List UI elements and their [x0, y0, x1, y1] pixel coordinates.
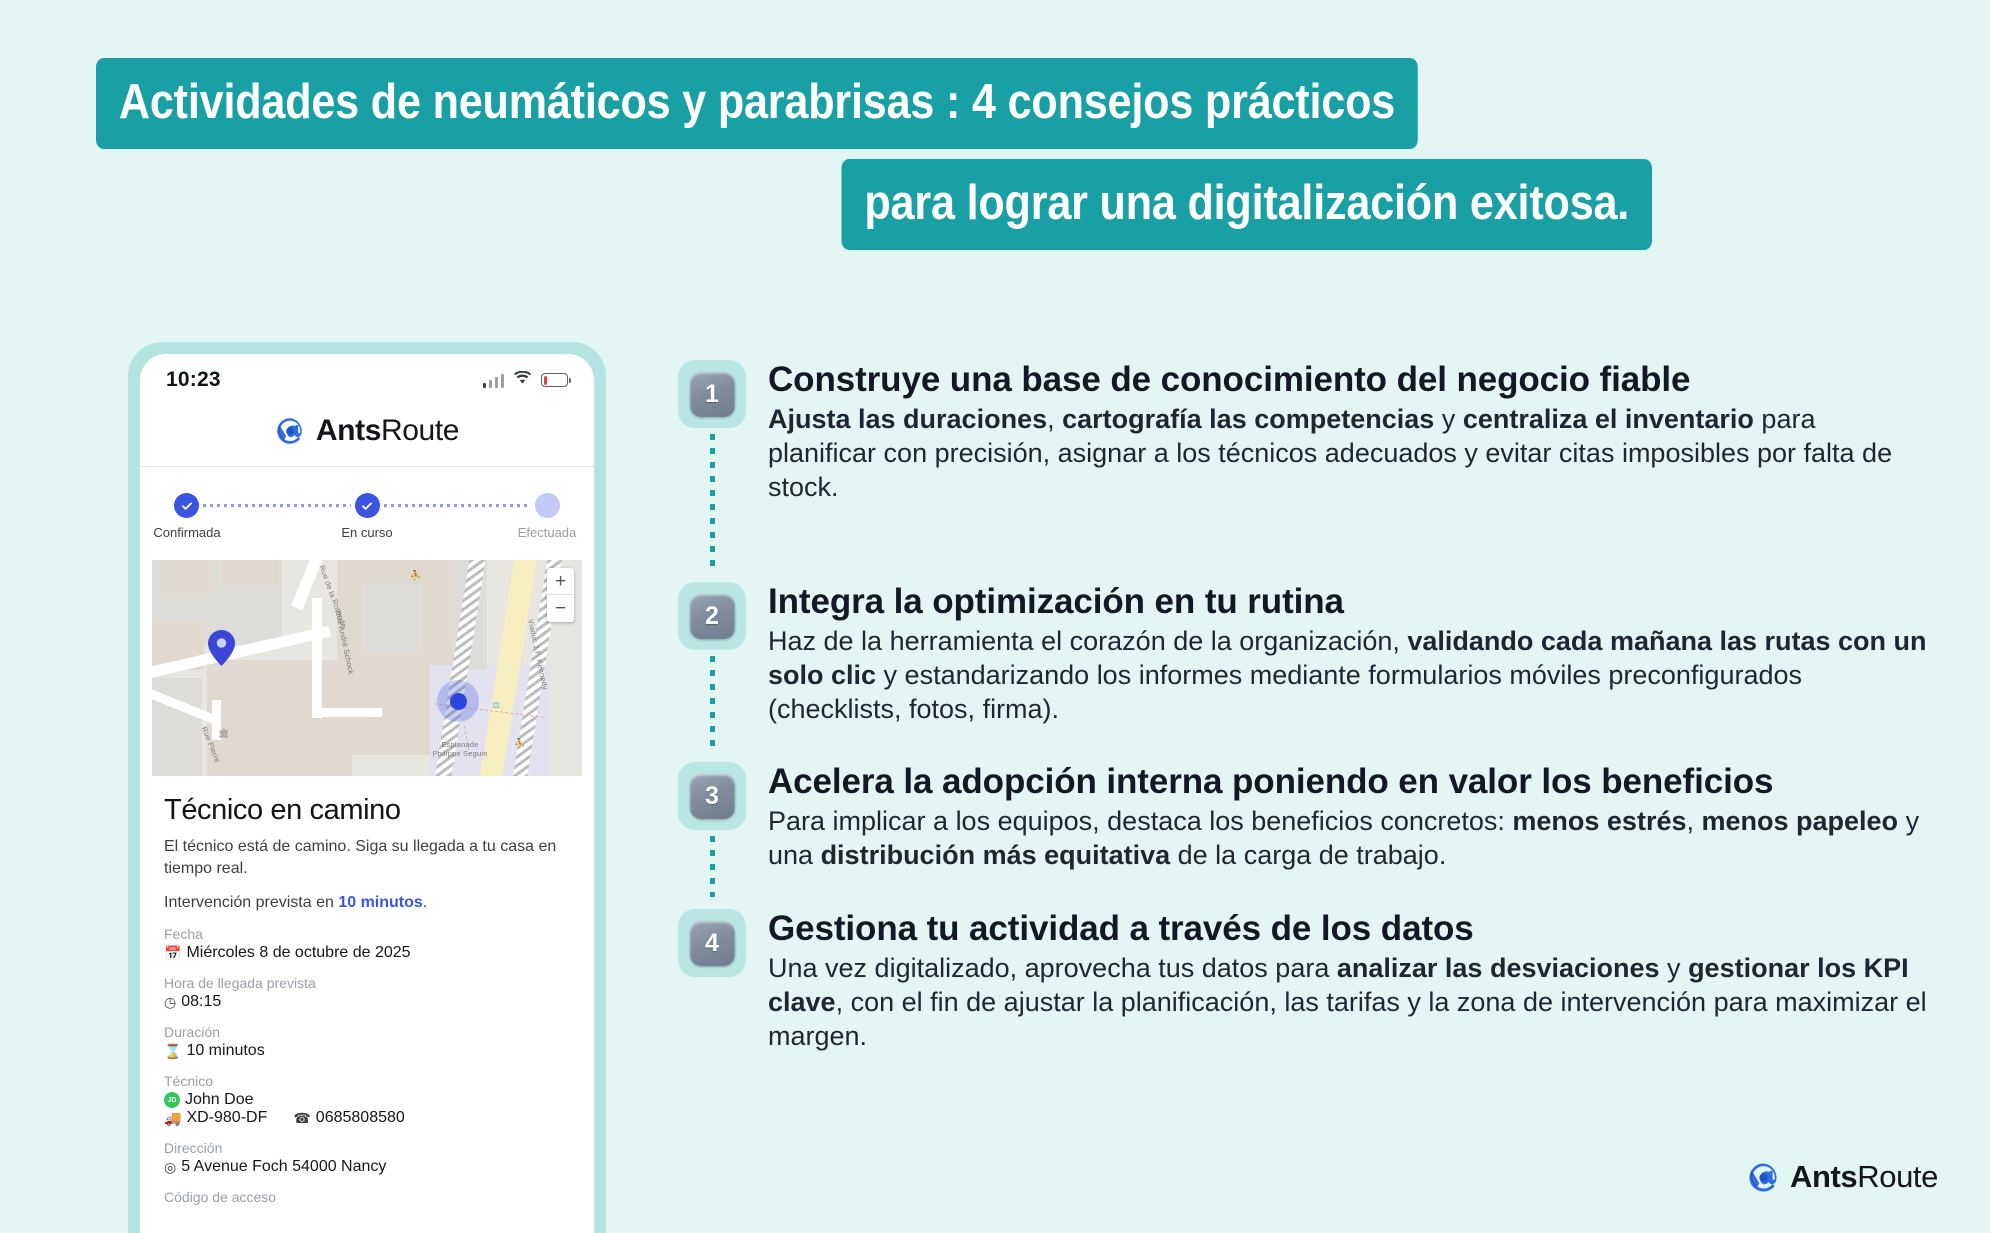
technician-name: John Doe [185, 1091, 254, 1109]
stepper-dot-en-curso [355, 493, 380, 518]
field-direccion-value-row: ◎ 5 Avenue Foch 54000 Nancy [164, 1158, 570, 1176]
wifi-icon [513, 371, 532, 390]
tip-3-badge-bg: 3 [678, 762, 746, 830]
tip-3-badge-column: 3 [678, 762, 746, 897]
field-tecnico: Técnico JD John Doe 🚚 XD-980-DF ☎ 068580… [164, 1073, 570, 1127]
stepper-label-confirmada: Confirmada [141, 525, 233, 540]
signal-bars-icon [483, 373, 505, 388]
footer-brand-text: AntsRoute [1790, 1159, 1938, 1195]
status-bar: 10:23 [140, 354, 594, 398]
tip-4-heading: Gestiona tu actividad a través de los da… [768, 909, 1928, 948]
tip-4-badge-bg: 4 [678, 909, 746, 977]
hourglass-icon: ⌛ [164, 1043, 181, 1060]
field-direccion-label: Dirección [164, 1140, 570, 1156]
tip-1-heading: Construye una base de conocimiento del n… [768, 360, 1928, 399]
status-bar-time: 10:23 [166, 368, 221, 392]
tip-1-badge-column: 1 [678, 360, 746, 570]
tip-3-heading: Acelera la adopción interna poniendo en … [768, 762, 1928, 801]
location-pin-icon: ◎ [164, 1159, 176, 1176]
antsroute-logo-icon [275, 416, 305, 446]
page-title-line-2: para lograr una digitalización exitosa. [842, 159, 1652, 250]
field-duracion-value-row: ⌛ 10 minutos [164, 1042, 570, 1060]
tip-connector-1 [710, 434, 715, 570]
tip-connector-2 [710, 656, 715, 750]
brand-bold: Ants [316, 414, 381, 447]
tip-2-body: Integra la optimización en tu rutina Haz… [746, 582, 1928, 726]
phone-screen: 10:23 AntsRoute [140, 354, 594, 1233]
map-pin-icon [208, 630, 235, 666]
stepper-dot-confirmada [174, 493, 199, 518]
tip-item-1: 1 Construye una base de conocimiento del… [678, 360, 1928, 570]
field-hora-value-row: ◷ 08:15 [164, 993, 570, 1011]
clock-icon: ◷ [164, 994, 176, 1011]
antsroute-logo-icon [1747, 1161, 1780, 1194]
technician-plate: XD-980-DF [186, 1109, 267, 1127]
field-fecha-value: Miércoles 8 de octubre de 2025 [186, 944, 410, 962]
page-title-line-1: Actividades de neumáticos y parabrisas :… [96, 58, 1418, 149]
phone-icon: ☎ [293, 1110, 310, 1127]
tip-1-body: Construye una base de conocimiento del n… [746, 360, 1928, 504]
technician-phone-group[interactable]: ☎ 0685808580 [293, 1109, 404, 1127]
footer-brand-bold: Ants [1790, 1159, 1857, 1194]
tip-connector-3 [710, 836, 715, 897]
stepper-line-1 [203, 504, 351, 507]
field-direccion-value: 5 Avenue Foch 54000 Nancy [181, 1158, 386, 1176]
field-direccion: Dirección ◎ 5 Avenue Foch 54000 Nancy [164, 1140, 570, 1176]
truck-icon: 🚚 [164, 1110, 181, 1127]
stepper-label-en-curso: En curso [233, 525, 501, 540]
tip-4-text: Una vez digitalizado, aprovecha tus dato… [768, 951, 1928, 1053]
field-tecnico-label: Técnico [164, 1073, 570, 1089]
intervention-details: Técnico en camino El técnico está de cam… [140, 776, 594, 1205]
field-codigo-acceso: Código de acceso [164, 1189, 570, 1205]
field-codigo-acceso-label: Código de acceso [164, 1189, 570, 1205]
map-zoom-controls[interactable]: + − [547, 568, 574, 622]
app-brand-text: AntsRoute [316, 414, 459, 448]
tip-3-number-badge: 3 [690, 774, 735, 819]
avatar: JD [164, 1092, 180, 1108]
tip-2-badge-bg: 2 [678, 582, 746, 650]
field-duracion-value: 10 minutos [186, 1042, 264, 1060]
field-hora-value: 08:15 [181, 993, 221, 1011]
tip-1-badge-bg: 1 [678, 360, 746, 428]
tip-2-text: Haz de la herramienta el corazón de la o… [768, 624, 1928, 726]
tip-4-number-badge: 4 [690, 921, 735, 966]
live-tracking-map[interactable]: Rue de la Rotonde Rue André Schock Rue P… [152, 560, 582, 776]
footer-brand: AntsRoute [1747, 1159, 1938, 1195]
battery-low-icon [541, 373, 568, 387]
stepper-dot-efectuada [535, 493, 560, 518]
order-status-stepper: Confirmada En curso Efectuada [140, 467, 594, 552]
eta-prefix: Intervención prevista en [164, 894, 338, 911]
details-heading: Técnico en camino [164, 794, 570, 827]
app-brand-header: AntsRoute [140, 398, 594, 467]
stepper-label-efectuada: Efectuada [501, 525, 593, 540]
details-paragraph: El técnico está de camino. Siga su llega… [164, 836, 570, 880]
tip-3-body: Acelera la adopción interna poniendo en … [746, 762, 1928, 872]
field-fecha-label: Fecha [164, 926, 570, 942]
field-duracion-label: Duración [164, 1024, 570, 1040]
page-title: Actividades de neumáticos y parabrisas :… [0, 58, 1990, 250]
status-bar-icons [483, 371, 569, 390]
tip-item-4: 4 Gestiona tu actividad a través de los … [678, 909, 1928, 1053]
eta-value: 10 minutos [338, 894, 422, 911]
technician-name-row: JD John Doe [164, 1091, 570, 1109]
technician-phone[interactable]: 0685808580 [316, 1109, 405, 1127]
field-fecha: Fecha 📅 Miércoles 8 de octubre de 2025 [164, 926, 570, 962]
footer-brand-light: Route [1857, 1159, 1938, 1194]
stepper-line-2 [384, 504, 532, 507]
tip-1-text: Ajusta las duraciones, cartografía las c… [768, 402, 1928, 504]
tips-list: 1 Construye una base de conocimiento del… [678, 360, 1928, 1065]
tip-2-badge-column: 2 [678, 582, 746, 750]
technician-meta-row: 🚚 XD-980-DF ☎ 0685808580 [164, 1109, 570, 1127]
map-zoom-out-button[interactable]: − [547, 595, 574, 622]
tip-item-3: 3 Acelera la adopción interna poniendo e… [678, 762, 1928, 897]
field-fecha-value-row: 📅 Miércoles 8 de octubre de 2025 [164, 944, 570, 962]
map-zoom-in-button[interactable]: + [547, 568, 574, 595]
phone-mockup: 10:23 AntsRoute [128, 342, 606, 1233]
tip-item-2: 2 Integra la optimización en tu rutina H… [678, 582, 1928, 750]
field-duracion: Duración ⌛ 10 minutos [164, 1024, 570, 1060]
stepper-labels: Confirmada En curso Efectuada [174, 525, 560, 540]
details-eta: Intervención prevista en 10 minutos. [164, 892, 570, 914]
field-hora-label: Hora de llegada prevista [164, 975, 570, 991]
tip-2-number-badge: 2 [690, 594, 735, 639]
eta-suffix: . [423, 894, 427, 911]
calendar-icon: 📅 [164, 945, 181, 962]
stepper-track [174, 493, 560, 518]
current-location-icon [437, 680, 479, 722]
tip-4-body: Gestiona tu actividad a través de los da… [746, 909, 1928, 1053]
brand-light: Route [381, 414, 459, 447]
tip-3-text: Para implicar a los equipos, destaca los… [768, 804, 1928, 872]
field-hora: Hora de llegada prevista ◷ 08:15 [164, 975, 570, 1011]
tip-1-number-badge: 1 [690, 372, 735, 417]
tip-4-badge-column: 4 [678, 909, 746, 977]
place-label-esplanade: Esplanade Philippe Seguin [430, 740, 490, 758]
tip-2-heading: Integra la optimización en tu rutina [768, 582, 1928, 621]
technician-plate-group: 🚚 XD-980-DF [164, 1109, 267, 1127]
